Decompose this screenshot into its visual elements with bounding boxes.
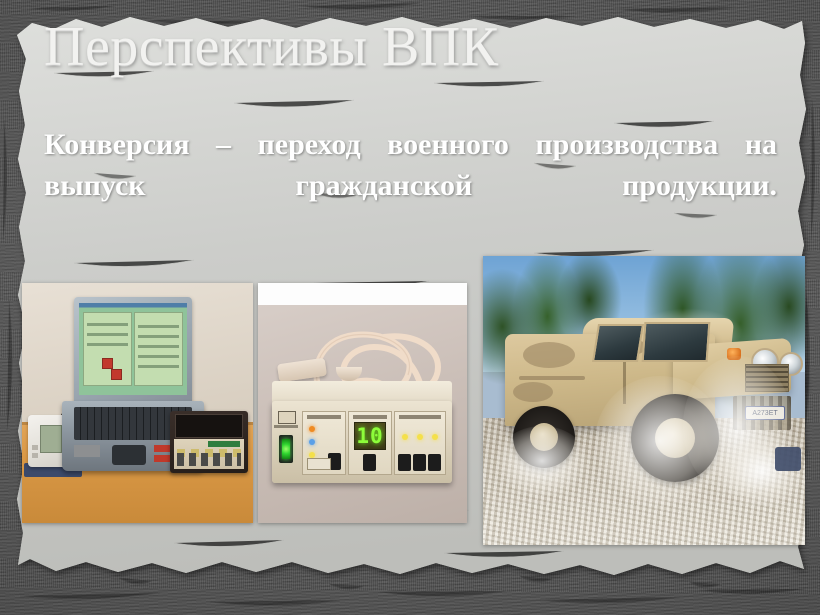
- photo-military-vehicle: А273ЕТ: [483, 256, 805, 545]
- laptop-lid: [74, 297, 192, 405]
- led-impulse: [402, 434, 408, 440]
- led-brightness: [432, 434, 438, 440]
- instrument-front-panel: 10: [272, 401, 452, 483]
- photo-medical-instrument: 10: [258, 283, 467, 523]
- bp-button-2: [32, 453, 38, 458]
- laptop-touchpad: [112, 445, 146, 465]
- instrument-logo: [278, 411, 296, 424]
- photo2-top-band: [258, 283, 467, 305]
- photo-laptop-medical-software: [22, 283, 253, 523]
- panel-bioresonator: [394, 411, 446, 475]
- laptop-badges: [74, 445, 100, 457]
- panel-3-label: [399, 415, 441, 419]
- vehicle-side-window: [592, 324, 644, 362]
- laptop-screen: [79, 303, 187, 395]
- diagnostic-device: [170, 411, 248, 473]
- instrument-model-text: [274, 425, 298, 428]
- slide-body-text: Конверсия – переход военного производств…: [44, 124, 777, 247]
- slide-canvas: Перспективы ВПК Конверсия – переход воен…: [0, 0, 820, 615]
- panel-frequency: 10: [348, 411, 392, 475]
- vehicle-windshield: [642, 322, 711, 362]
- screen-panel-left: [83, 312, 131, 386]
- device-key-row: [177, 453, 241, 466]
- device-panel: [174, 439, 244, 469]
- power-lamp: [282, 439, 290, 459]
- bp-button-1: [32, 445, 38, 450]
- panel-3-button-1[interactable]: [398, 454, 411, 471]
- screen-panel-right: [134, 312, 182, 386]
- panel-2-label: [353, 415, 387, 419]
- led-breath: [309, 439, 315, 445]
- panel-3-button-3[interactable]: [428, 454, 441, 471]
- device-brand-text: [208, 441, 240, 447]
- slide-title: Перспективы ВПК: [44, 18, 499, 77]
- water-spray-left: [497, 426, 587, 496]
- display-value: 10: [356, 426, 383, 447]
- digital-display: 10: [354, 422, 386, 450]
- panel-1-readout: [307, 458, 331, 470]
- panel-1-label: [307, 415, 341, 419]
- led-frequency: [417, 434, 423, 440]
- background-object: [775, 447, 801, 471]
- power-switch[interactable]: [279, 435, 293, 463]
- panel-bioupravlenie: [302, 411, 346, 475]
- panel-2-button[interactable]: [363, 454, 376, 471]
- led-pulse: [309, 426, 315, 432]
- panel-3-button-2[interactable]: [413, 454, 426, 471]
- device-lid: [175, 414, 243, 438]
- bp-lcd-display: [40, 425, 62, 453]
